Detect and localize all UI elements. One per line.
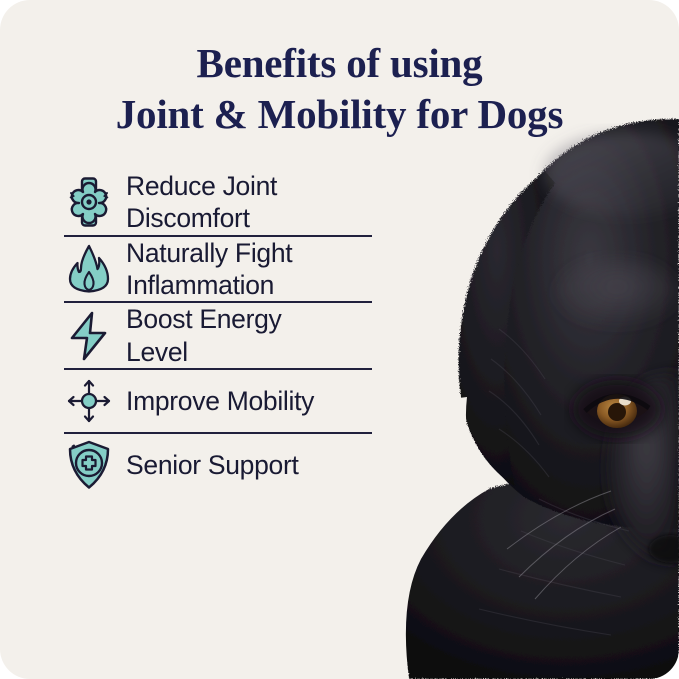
benefit-item-reduce-joint-discomfort: Reduce Joint Discomfort (0, 170, 400, 235)
benefits-list: Reduce Joint Discomfort Naturally Fight … (0, 170, 400, 496)
benefit-label: Reduce Joint Discomfort (126, 170, 277, 235)
page-title: Benefits of using Joint & Mobility for D… (0, 38, 679, 141)
benefit-label: Senior Support (126, 449, 299, 481)
title-line-2: Joint & Mobility for Dogs (0, 89, 679, 140)
flame-icon (62, 238, 116, 300)
benefit-label: Boost Energy Level (126, 303, 282, 368)
shield-plus-icon (62, 434, 116, 496)
benefit-item-naturally-fight-inflammation: Naturally Fight Inflammation (0, 237, 400, 302)
lightning-bolt-icon (62, 305, 116, 367)
benefit-label: Improve Mobility (126, 385, 314, 417)
title-line-1: Benefits of using (0, 38, 679, 89)
joint-icon (62, 171, 116, 233)
benefit-item-senior-support: Senior Support (0, 434, 400, 496)
benefits-card: Benefits of using Joint & Mobility for D… (0, 0, 679, 679)
benefit-label: Naturally Fight Inflammation (126, 237, 292, 302)
benefit-item-improve-mobility: Improve Mobility (0, 370, 400, 432)
benefit-item-boost-energy-level: Boost Energy Level (0, 303, 400, 368)
four-way-arrows-icon (62, 370, 116, 432)
